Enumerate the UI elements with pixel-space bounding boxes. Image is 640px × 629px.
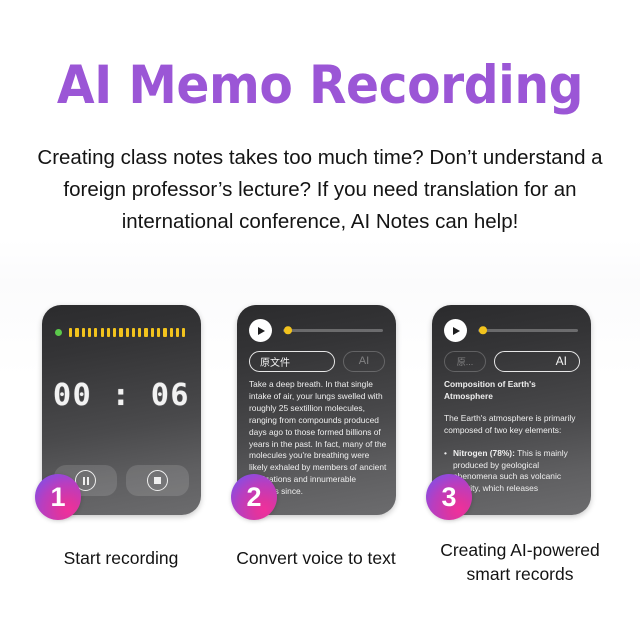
meter-bar-icon <box>170 328 173 337</box>
meter-bar-icon <box>119 328 122 337</box>
meter-bar-icon <box>82 328 85 337</box>
meter-bar-icon <box>144 328 147 337</box>
summary-heading: Composition of Earth's Atmosphere <box>444 379 582 403</box>
meter-bar-icon <box>107 328 110 337</box>
progress-slider[interactable] <box>283 329 383 332</box>
progress-knob[interactable] <box>284 327 292 335</box>
text-spacer <box>444 437 582 448</box>
meter-bar-icon <box>138 328 141 337</box>
summary-tabs: 原... AI <box>444 350 580 372</box>
step-badge-1: 1 <box>35 474 81 520</box>
progress-slider[interactable] <box>478 329 578 332</box>
play-icon <box>453 327 460 335</box>
meter-bar-icon <box>75 328 78 337</box>
meter-bar-icon <box>113 328 116 337</box>
audio-player <box>444 319 580 342</box>
stop-icon <box>147 470 168 491</box>
progress-knob[interactable] <box>479 327 487 335</box>
meter-bar-icon <box>176 328 179 337</box>
step-badge-3: 3 <box>426 474 472 520</box>
step-caption-3: Creating AI-powered smart records <box>420 538 620 586</box>
meter-bar-icon <box>163 328 166 337</box>
stop-button[interactable] <box>126 465 189 496</box>
meter-bar-icon <box>101 328 104 337</box>
step-caption-2: Convert voice to text <box>216 546 416 570</box>
meter-bar-icon <box>151 328 154 337</box>
meter-bar-icon <box>69 328 72 337</box>
meter-bar-icon <box>182 328 185 337</box>
audio-level-meter <box>55 326 193 338</box>
step-caption-1: Start recording <box>21 546 221 570</box>
step-badge-2: 2 <box>231 474 277 520</box>
tab-ai[interactable]: AI <box>494 351 580 372</box>
tab-ai[interactable]: AI <box>343 351 385 372</box>
recording-dot-icon <box>55 329 62 336</box>
recording-timer: 00 : 06 <box>42 378 201 413</box>
promo-page: AI Memo Recording Creating class notes t… <box>0 0 640 629</box>
tab-original-file[interactable]: 原文件 <box>249 351 335 372</box>
transcript-tabs: 原文件 AI <box>249 350 385 372</box>
meter-bar-icon <box>126 328 129 337</box>
tab-original-file[interactable]: 原... <box>444 351 486 372</box>
page-title: AI Memo Recording <box>26 57 615 115</box>
meter-bar-icon <box>88 328 91 337</box>
page-subtitle: Creating class notes takes too much time… <box>12 142 628 238</box>
summary-intro: The Earth's atmosphere is primarily comp… <box>444 413 582 437</box>
audio-player <box>249 319 385 342</box>
meter-bar-icon <box>157 328 160 337</box>
meter-bar-icon <box>132 328 135 337</box>
play-button[interactable] <box>444 319 467 342</box>
play-icon <box>258 327 265 335</box>
meter-bar-icon <box>94 328 97 337</box>
feature-card-row: 00 : 06 <box>0 305 640 520</box>
bullet-lead: Nitrogen (78%): <box>453 448 515 458</box>
play-button[interactable] <box>249 319 272 342</box>
